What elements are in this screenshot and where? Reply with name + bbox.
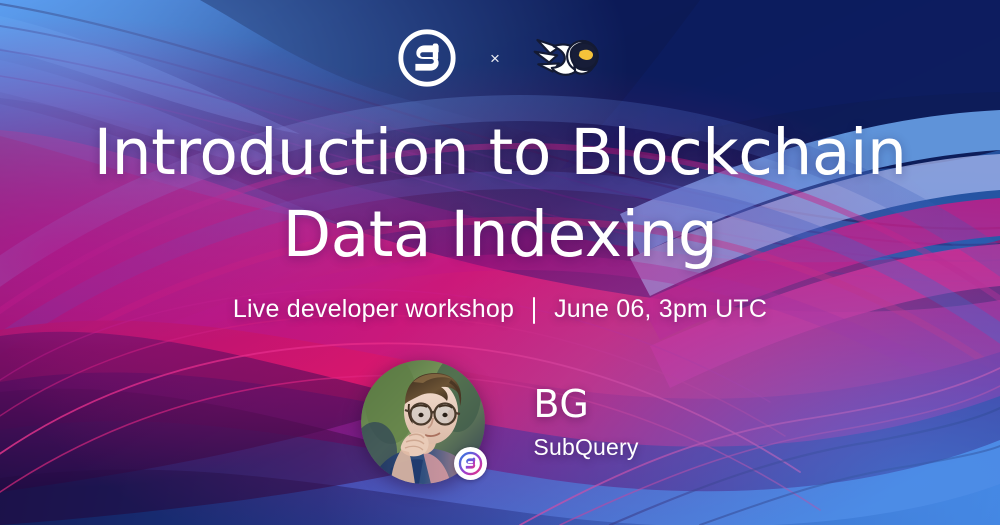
- page-title: Introduction to Blockchain Data Indexing: [0, 112, 1000, 276]
- speaker-organization: SubQuery: [533, 436, 638, 459]
- event-datetime-label: June 06, 3pm UTC: [554, 297, 767, 322]
- speaker-details: BG SubQuery: [533, 385, 638, 459]
- event-type-label: Live developer workshop: [233, 297, 514, 322]
- subquery-badge-icon: [454, 447, 487, 480]
- subtitle: Live developer workshop June 06, 3pm UTC: [0, 296, 1000, 323]
- logo-row: ×: [0, 22, 1000, 94]
- partner-bird-logo-icon: [532, 28, 604, 88]
- subquery-logo-icon: [396, 27, 458, 89]
- avatar: [361, 360, 485, 484]
- speaker-name: BG: [533, 385, 638, 425]
- headline-line-1: Introduction to Blockchain: [0, 112, 1000, 194]
- speaker-block: BG SubQuery: [0, 360, 1000, 484]
- logo-separator-x: ×: [490, 50, 500, 67]
- headline-line-2: Data Indexing: [0, 194, 1000, 276]
- subtitle-divider: [533, 297, 535, 324]
- webinar-banner: ×: [0, 0, 1000, 525]
